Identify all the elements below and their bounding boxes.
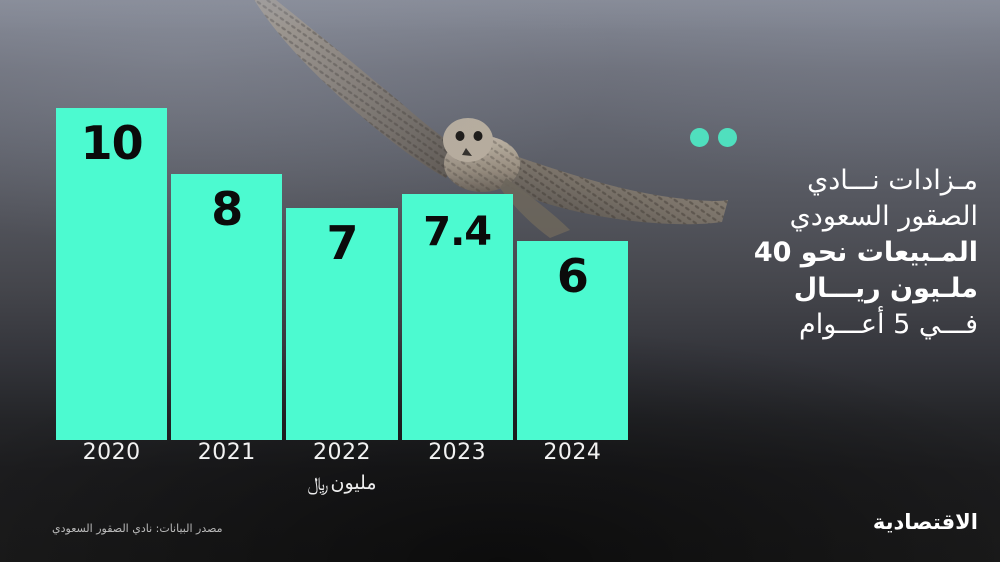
headline-line-2: الصقور السعودي xyxy=(688,199,978,235)
x-axis-tick-2022: 2022 xyxy=(286,440,397,465)
bar-2020: 10 xyxy=(56,108,167,440)
x-axis-tick-2021: 2021 xyxy=(171,440,282,465)
x-axis-tick-2023: 2023 xyxy=(402,440,513,465)
bar-value-label: 6 xyxy=(517,253,628,299)
x-axis-tick-2020: 2020 xyxy=(56,440,167,465)
bar-2023: 7.4 xyxy=(402,194,513,440)
riyal-currency-icon: ﷼ xyxy=(307,473,328,495)
x-axis-labels: 20202021202220232024 xyxy=(56,440,628,470)
decorative-dots xyxy=(688,128,978,147)
bar-2024: 6 xyxy=(517,241,628,440)
bar-column: 7.4 xyxy=(402,100,513,440)
dot-icon xyxy=(690,128,709,147)
bar-column: 10 xyxy=(56,100,167,440)
bar-value-label: 7 xyxy=(286,220,397,266)
data-source-note: مصدر البيانات: نادي الصقور السعودي xyxy=(52,522,223,535)
headline-line-1: مـزادات نـــادي xyxy=(688,163,978,199)
unit-text: مليون xyxy=(331,472,377,494)
headline-line-4: ملـيون ريـــال xyxy=(688,271,978,307)
headline-line-5: فـــي 5 أعـــوام xyxy=(688,307,978,343)
bar-column: 7 xyxy=(286,100,397,440)
bar-2021: 8 xyxy=(171,174,282,440)
bar-chart: 10877.46 xyxy=(56,100,628,440)
bar-value-label: 8 xyxy=(171,186,282,232)
y-axis-unit-label: مليون﷼ xyxy=(56,472,628,494)
dot-icon xyxy=(718,128,737,147)
headline-line-3: المـبيعات نحو 40 xyxy=(688,235,978,271)
background-haze xyxy=(0,0,1000,30)
x-axis-tick-2024: 2024 xyxy=(517,440,628,465)
bar-value-label: 10 xyxy=(56,120,167,166)
bar-column: 8 xyxy=(171,100,282,440)
bar-value-label: 7.4 xyxy=(402,212,513,252)
infographic-canvas: 10877.46 20202021202220232024 مليون﷼ مـز… xyxy=(0,0,1000,562)
bar-2022: 7 xyxy=(286,208,397,440)
publisher-logo: الاقتصادية xyxy=(873,510,978,534)
headline-block: مـزادات نـــادي الصقور السعودي المـبيعات… xyxy=(688,128,978,343)
bar-column: 6 xyxy=(517,100,628,440)
